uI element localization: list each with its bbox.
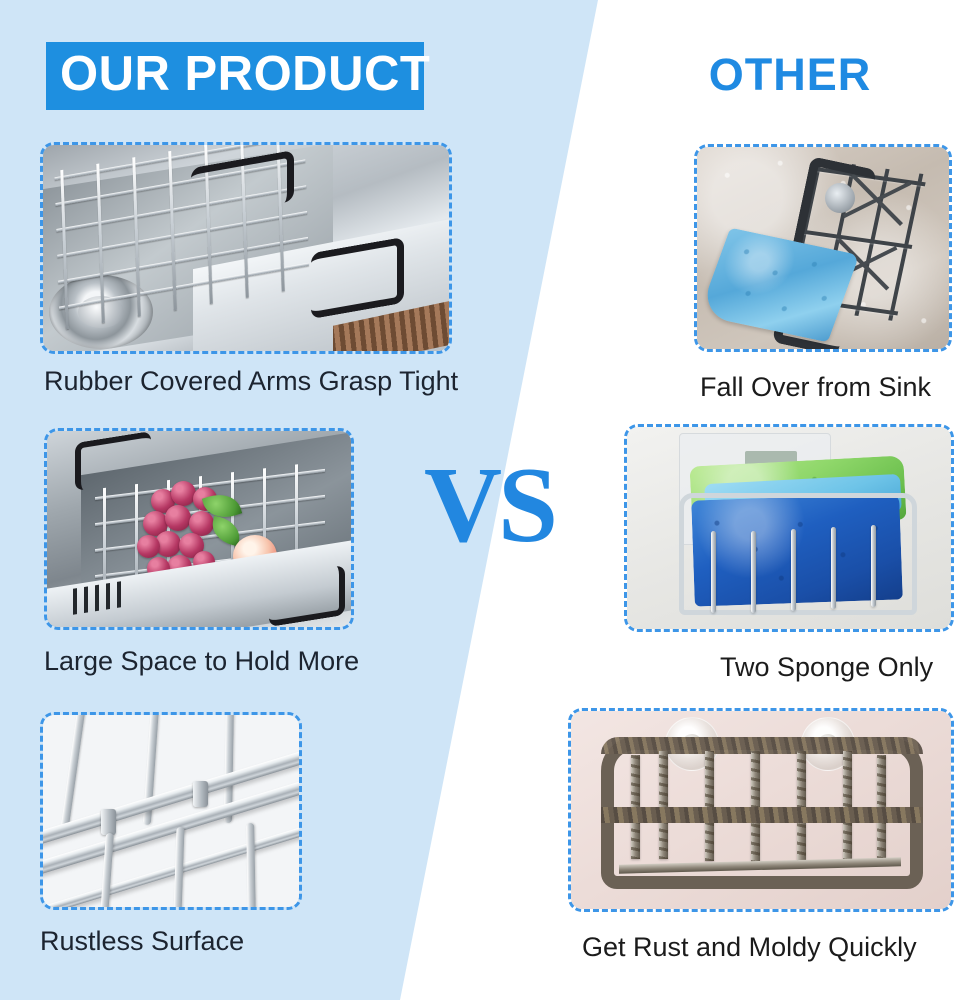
- caption-rustless-surface: Rustless Surface: [40, 926, 244, 957]
- basket-bar: [843, 751, 852, 861]
- grape: [171, 481, 196, 506]
- falling-sponge-holder-photo: [694, 144, 952, 352]
- photo-content: [43, 715, 299, 907]
- grape: [165, 505, 191, 531]
- our-product-header-banner: OUR PRODUCT: [46, 42, 424, 110]
- basket-bar: [791, 529, 796, 611]
- rusty-middle-rail: [601, 807, 923, 823]
- photo-content: [627, 427, 951, 629]
- suction-cup: [825, 183, 855, 213]
- versus-label: VS: [424, 452, 554, 560]
- caption-fall-over-from-sink: Fall Over from Sink: [700, 372, 931, 403]
- small-basket-two-sponges-photo: [624, 424, 954, 632]
- wire-clip: [101, 809, 116, 835]
- basket-bar: [705, 751, 714, 861]
- caption-large-space: Large Space to Hold More: [44, 646, 359, 677]
- other-header: OTHER: [630, 52, 950, 97]
- our-product-header-label: OUR PRODUCT: [60, 50, 430, 99]
- wire-clip: [193, 781, 208, 807]
- photo-content: [43, 145, 449, 351]
- basket-bar: [659, 751, 668, 859]
- basket-with-grapes-and-peaches-photo: [44, 428, 354, 630]
- rusty-moldy-basket-photo: [568, 708, 954, 912]
- photo-content: [47, 431, 351, 627]
- chrome-rod: [246, 823, 256, 907]
- chrome-wire-closeup-photo: [40, 712, 302, 910]
- basket-bar: [751, 531, 756, 613]
- caption-rubber-covered-arms: Rubber Covered Arms Grasp Tight: [44, 366, 458, 397]
- white-backdrop: [43, 715, 299, 907]
- basket-bar: [711, 531, 716, 613]
- photo-content: [697, 147, 949, 349]
- caption-two-sponge-only: Two Sponge Only: [720, 652, 933, 683]
- grape: [137, 535, 160, 558]
- rusty-top-rail: [601, 737, 923, 754]
- photo-content: [571, 711, 951, 909]
- sink-basket-rubber-arms-photo: [40, 142, 452, 354]
- caption-get-rust-and-moldy: Get Rust and Moldy Quickly: [582, 932, 917, 963]
- basket-bar: [831, 527, 836, 609]
- basket-bar: [871, 525, 876, 607]
- product-comparison-infographic: OUR PRODUCT OTHER VS: [0, 0, 958, 1000]
- other-header-label: OTHER: [709, 49, 872, 100]
